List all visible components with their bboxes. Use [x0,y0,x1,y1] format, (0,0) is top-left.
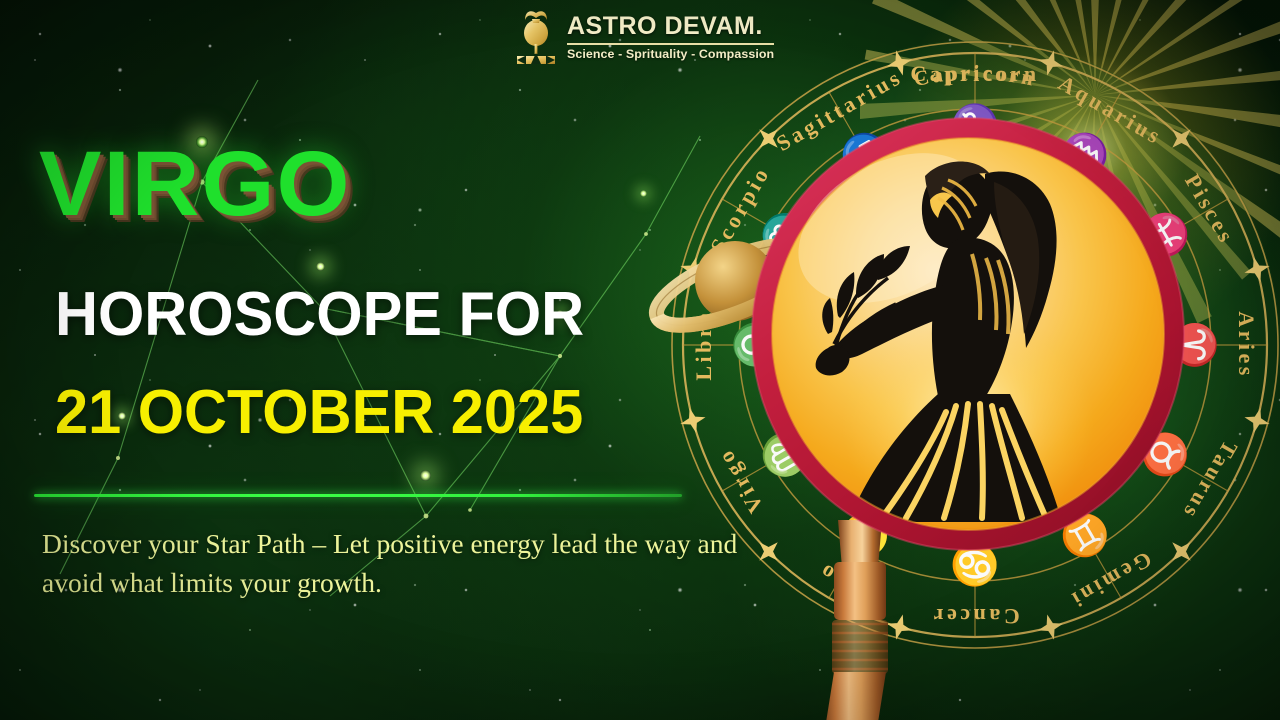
brand-logo-text: ASTRO DEVAM. Science - Sprituality - Com… [567,14,774,60]
svg-text:Leo: Leo [813,558,865,603]
svg-text:♍: ♍ [752,422,817,488]
sunburst-rays [860,0,1280,330]
svg-text:Pisces: Pisces [1180,170,1240,249]
svg-text:♒: ♒ [1052,122,1118,187]
svg-text:♏: ♏ [752,202,817,268]
horoscope-banner: Capricorn Capricorn ♑ Aquarius ♒ Pisces [0,0,1280,720]
astro-devam-kalash-logo-icon [514,8,558,66]
brand-logo[interactable]: ASTRO DEVAM. Science - Sprituality - Com… [514,6,780,68]
svg-text:♐: ♐ [832,122,898,187]
brand-underline [567,43,774,45]
subtitle-text: Discover your Star Path – Let positive e… [42,524,752,602]
svg-text:♑: ♑ [950,102,1000,148]
zodiac-sign-title: VIRGO [39,138,352,230]
svg-text:♈: ♈ [1172,320,1218,370]
headline-line-2: HOROSCOPE FOR [55,284,584,346]
svg-text:Cancer: Cancer [930,604,1019,629]
svg-text:♋: ♋ [950,542,1000,588]
brand-tagline: Science - Sprituality - Compassion [567,48,774,60]
svg-text:Aquarius: Aquarius [1054,70,1167,150]
headline-block: VIRGO HOROSCOPE FOR 21 OCTOBER 2025 Disc… [0,0,760,720]
divider-line [34,494,682,497]
svg-text:♌: ♌ [832,503,898,568]
svg-text:♓: ♓ [1133,202,1198,268]
magnifier-handle [800,520,920,720]
svg-text:♉: ♉ [1133,422,1198,488]
svg-text:♊: ♊ [1052,503,1118,568]
svg-text:Capricorn: Capricorn [912,60,1039,91]
svg-text:Aries: Aries [1234,311,1259,379]
svg-text:Capricorn: Capricorn [910,61,1039,86]
golden-glow [830,0,1280,410]
headline-date: 21 OCTOBER 2025 [55,382,583,444]
svg-text:Taurus: Taurus [1177,437,1242,525]
svg-text:Gemini: Gemini [1065,547,1156,614]
magnifier-lens-virgo [742,108,1194,560]
svg-text:Sagittarius: Sagittarius [772,64,907,156]
brand-name: ASTRO DEVAM. [567,14,774,39]
wheel-sign-capricorn: Capricorn [912,60,1039,91]
